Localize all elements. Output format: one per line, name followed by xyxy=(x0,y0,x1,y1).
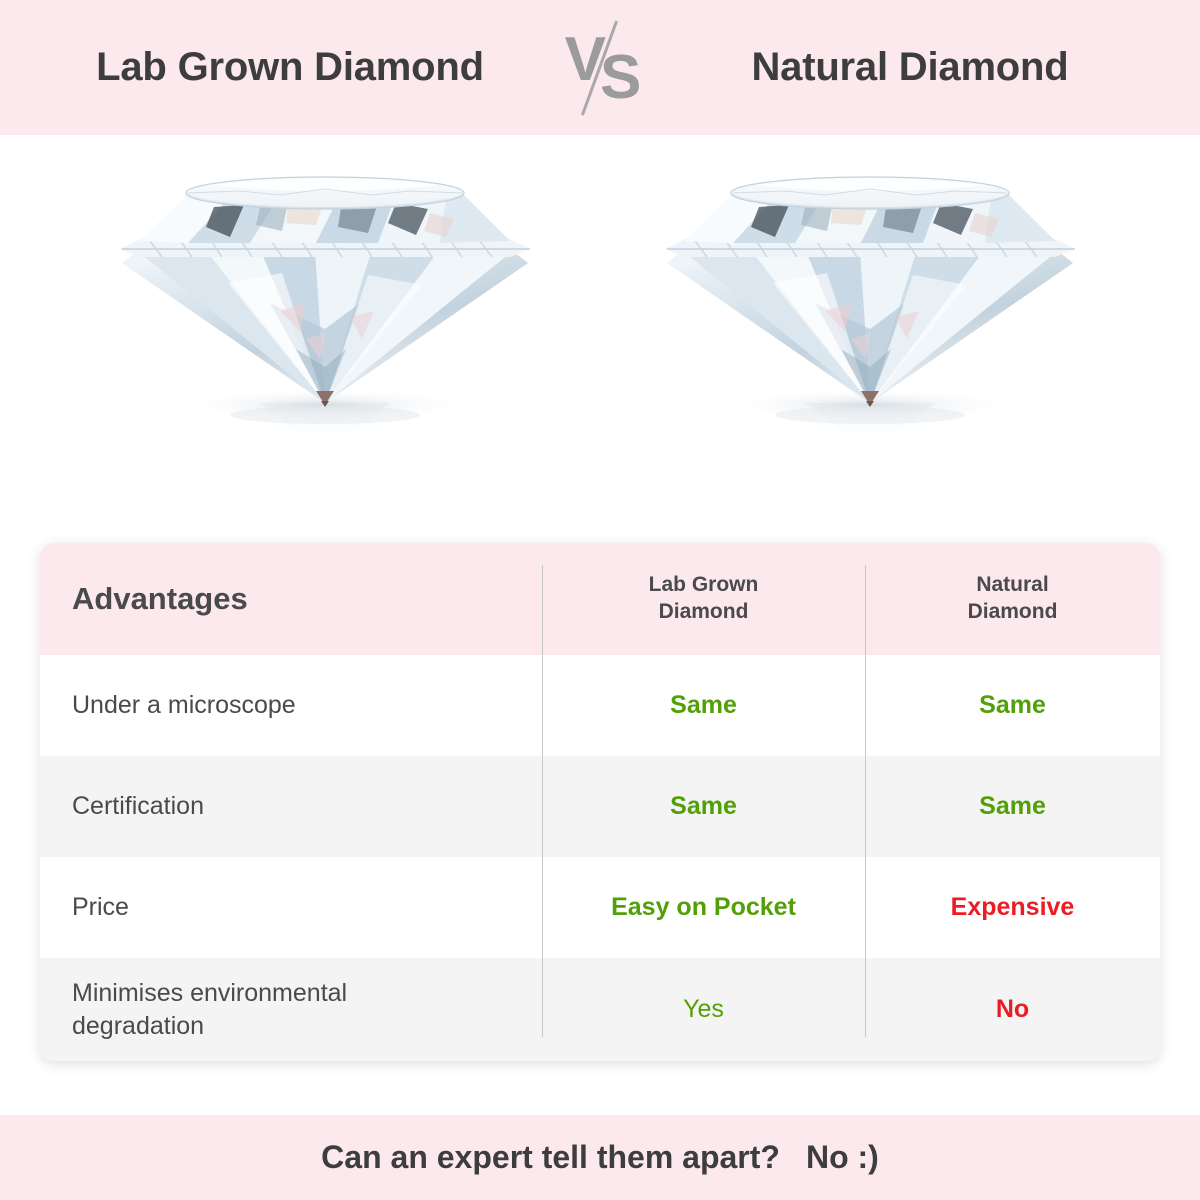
natural-value: Expensive xyxy=(951,893,1075,921)
natural-header-cell: Natural Diamond xyxy=(865,572,1160,626)
column-divider-1 xyxy=(542,565,543,1037)
row-lab-value-cell: Same xyxy=(542,792,865,821)
row-lab-value-cell: Yes xyxy=(542,995,865,1024)
vs-letter-s: S xyxy=(600,47,635,109)
row-feature-cell: Minimises environmental degradation xyxy=(40,977,542,1042)
advantages-label: Advantages xyxy=(72,581,248,616)
footer-band: Can an expert tell them apart? No :) xyxy=(0,1115,1200,1200)
lab-value: Easy on Pocket xyxy=(611,893,796,921)
footer-question: Can an expert tell them apart? xyxy=(321,1139,780,1176)
header-inner: Lab Grown Diamond VS Natural Diamond xyxy=(0,0,1200,135)
natural-header-line2: Diamond xyxy=(865,599,1160,626)
natural-diamond-image xyxy=(655,153,1085,483)
table-row: Under a microscope Same Same xyxy=(40,655,1160,756)
row-natural-value-cell: Expensive xyxy=(865,893,1160,922)
lab-grown-header-cell: Lab Grown Diamond xyxy=(542,572,865,626)
natural-header-line1: Natural xyxy=(865,572,1160,599)
natural-value: Same xyxy=(979,792,1046,820)
table-row: Price Easy on Pocket Expensive xyxy=(40,857,1160,958)
row-feature-cell: Price xyxy=(40,891,542,924)
table-header-row: Advantages Lab Grown Diamond Natural Dia… xyxy=(40,543,1160,655)
feature-label: Under a microscope xyxy=(72,691,296,719)
natural-value: Same xyxy=(979,691,1046,719)
natural-value: No xyxy=(996,995,1029,1023)
vs-badge: VS xyxy=(540,0,660,135)
feature-label: Price xyxy=(72,893,129,921)
lab-value: Same xyxy=(670,691,737,719)
diamond-gallery xyxy=(0,135,1200,530)
row-natural-value-cell: Same xyxy=(865,691,1160,720)
row-feature-cell: Certification xyxy=(40,790,542,823)
table-row: Minimises environmental degradation Yes … xyxy=(40,958,1160,1061)
comparison-table: Advantages Lab Grown Diamond Natural Dia… xyxy=(40,543,1160,1061)
lab-grown-header-line1: Lab Grown xyxy=(542,572,865,599)
footer-answer: No :) xyxy=(806,1139,879,1176)
lab-value: Yes xyxy=(683,995,724,1023)
table-row: Certification Same Same xyxy=(40,756,1160,857)
row-natural-value-cell: Same xyxy=(865,792,1160,821)
column-divider-2 xyxy=(865,565,866,1037)
header-band: Lab Grown Diamond VS Natural Diamond xyxy=(0,0,1200,135)
header-right: Natural Diamond xyxy=(660,45,1160,90)
feature-label-line2: degradation xyxy=(72,1010,542,1043)
lab-grown-header-line2: Diamond xyxy=(542,599,865,626)
natural-title: Natural Diamond xyxy=(751,45,1068,89)
lab-value: Same xyxy=(670,792,737,820)
row-feature-cell: Under a microscope xyxy=(40,689,542,722)
header-left: Lab Grown Diamond xyxy=(40,45,540,90)
advantages-header-cell: Advantages xyxy=(40,581,542,617)
row-natural-value-cell: No xyxy=(865,995,1160,1024)
feature-label-line1: Minimises environmental xyxy=(72,977,542,1010)
row-lab-value-cell: Easy on Pocket xyxy=(542,893,865,922)
lab-grown-title: Lab Grown Diamond xyxy=(96,45,484,89)
row-lab-value-cell: Same xyxy=(542,691,865,720)
feature-label: Certification xyxy=(72,792,204,820)
lab-grown-diamond-image xyxy=(110,153,540,483)
